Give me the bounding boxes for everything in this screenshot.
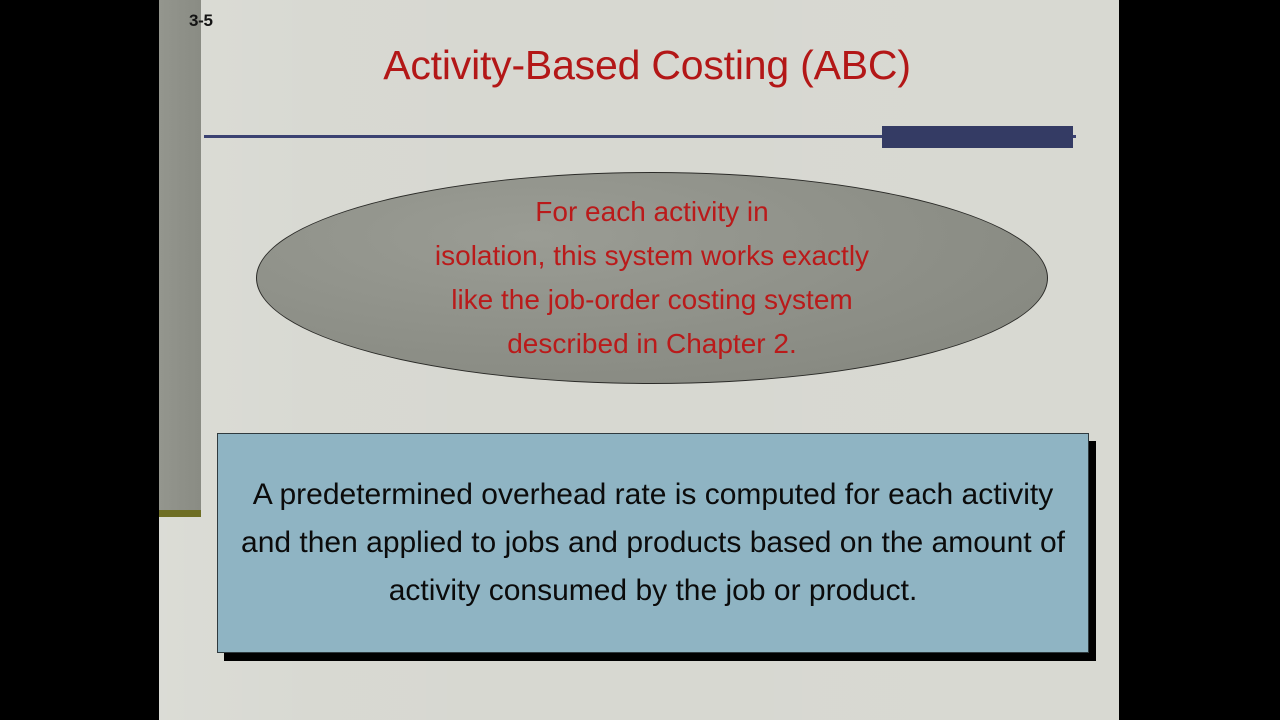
page-title: Activity-Based Costing (ABC) (207, 42, 1087, 89)
ellipse-callout: For each activity in isolation, this sys… (256, 172, 1048, 384)
ellipse-callout-text: For each activity in isolation, this sys… (411, 190, 893, 366)
slide-canvas: 3-5 Activity-Based Costing (ABC) For eac… (159, 0, 1119, 720)
callout-box: A predetermined overhead rate is compute… (217, 433, 1089, 653)
title-accent-block (882, 126, 1073, 148)
sidebar-accent-rule (159, 510, 201, 517)
presentation-viewer: 3-5 Activity-Based Costing (ABC) For eac… (0, 0, 1280, 720)
letterbox-right (1119, 0, 1280, 720)
callout-box-text: A predetermined overhead rate is compute… (218, 471, 1088, 615)
sidebar-accent-bar (159, 0, 201, 512)
slide-number: 3-5 (189, 11, 213, 31)
letterbox-left (0, 0, 159, 720)
